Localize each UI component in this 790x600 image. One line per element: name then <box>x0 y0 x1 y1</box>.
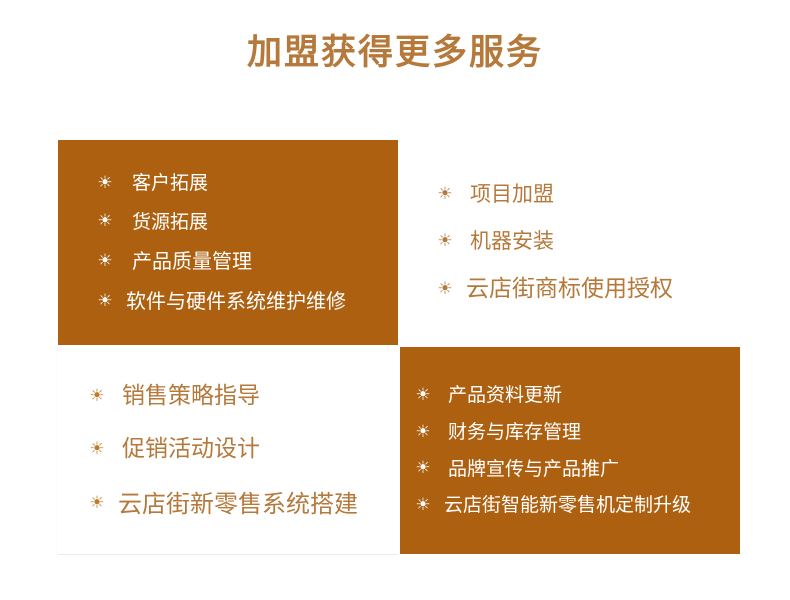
list-item-label: 货源拓展 <box>132 212 208 233</box>
sun-icon: ☀ <box>86 388 108 405</box>
list-item: ☀ 云店街智能新零售机定制升级 <box>412 495 740 516</box>
sun-icon: ☀ <box>86 495 108 512</box>
panel-top-right: ☀ 项目加盟 ☀ 机器安装 ☀ 云店街商标使用授权 <box>400 140 740 345</box>
list-item: ☀ 销售策略指导 <box>86 384 398 409</box>
list-item-label: 云店街智能新零售机定制升级 <box>444 495 691 516</box>
list-item-label: 产品资料更新 <box>448 385 562 406</box>
list-item: ☀ 软件与硬件系统维护维修 <box>94 290 398 312</box>
list-item: ☀ 促销活动设计 <box>86 437 398 462</box>
panel-bottom-left: ☀ 销售策略指导 ☀ 促销活动设计 ☀ 云店街新零售系统搭建 <box>58 347 398 554</box>
sun-icon: ☀ <box>412 497 434 514</box>
sun-icon: ☀ <box>94 253 116 270</box>
sun-icon: ☀ <box>94 213 116 230</box>
panel-top-left: ☀ 客户拓展 ☀ 货源拓展 ☀ 产品质量管理 ☀ 软件与硬件系统维护维修 <box>58 140 398 345</box>
benefits-grid: ☀ 客户拓展 ☀ 货源拓展 ☀ 产品质量管理 ☀ 软件与硬件系统维护维修 ☀ 项… <box>58 140 740 554</box>
sun-icon: ☀ <box>94 175 116 192</box>
panel-bottom-right: ☀ 产品资料更新 ☀ 财务与库存管理 ☀ 品牌宣传与产品推广 ☀ 云店街智能新零… <box>400 347 740 554</box>
list-item: ☀ 客户拓展 <box>94 173 398 194</box>
list-item: ☀ 财务与库存管理 <box>412 422 740 443</box>
sun-icon: ☀ <box>412 387 434 404</box>
sun-icon: ☀ <box>434 186 456 203</box>
list-item-label: 品牌宣传与产品推广 <box>448 459 619 480</box>
list-item-label: 销售策略指导 <box>122 384 260 409</box>
list-item: ☀ 云店街新零售系统搭建 <box>86 491 398 517</box>
list-item: ☀ 产品质量管理 <box>94 250 398 272</box>
list-item-label: 云店街新零售系统搭建 <box>118 491 358 517</box>
list-item: ☀ 产品资料更新 <box>412 385 740 406</box>
list-item: ☀ 货源拓展 <box>94 212 398 233</box>
list-item-label: 促销活动设计 <box>122 437 260 462</box>
sun-icon: ☀ <box>412 424 434 441</box>
service-benefits-page: 加盟获得更多服务 ☀ 客户拓展 ☀ 货源拓展 ☀ 产品质量管理 ☀ 软件与硬件系… <box>0 0 790 600</box>
list-item-label: 云店街商标使用授权 <box>466 277 673 302</box>
sun-icon: ☀ <box>86 441 108 458</box>
list-item: ☀ 品牌宣传与产品推广 <box>412 459 740 480</box>
list-item-label: 财务与库存管理 <box>448 422 581 443</box>
sun-icon: ☀ <box>434 233 456 250</box>
list-item-label: 软件与硬件系统维护维修 <box>126 290 346 312</box>
sun-icon: ☀ <box>412 460 434 477</box>
list-item-label: 产品质量管理 <box>132 250 252 272</box>
page-title: 加盟获得更多服务 <box>0 30 790 76</box>
list-item: ☀ 项目加盟 <box>434 183 740 206</box>
list-item-label: 机器安装 <box>470 230 554 253</box>
sun-icon: ☀ <box>94 293 116 310</box>
sun-icon: ☀ <box>434 281 456 298</box>
list-item: ☀ 云店街商标使用授权 <box>434 277 740 302</box>
list-item: ☀ 机器安装 <box>434 230 740 253</box>
list-item-label: 客户拓展 <box>132 173 208 194</box>
list-item-label: 项目加盟 <box>470 183 554 206</box>
